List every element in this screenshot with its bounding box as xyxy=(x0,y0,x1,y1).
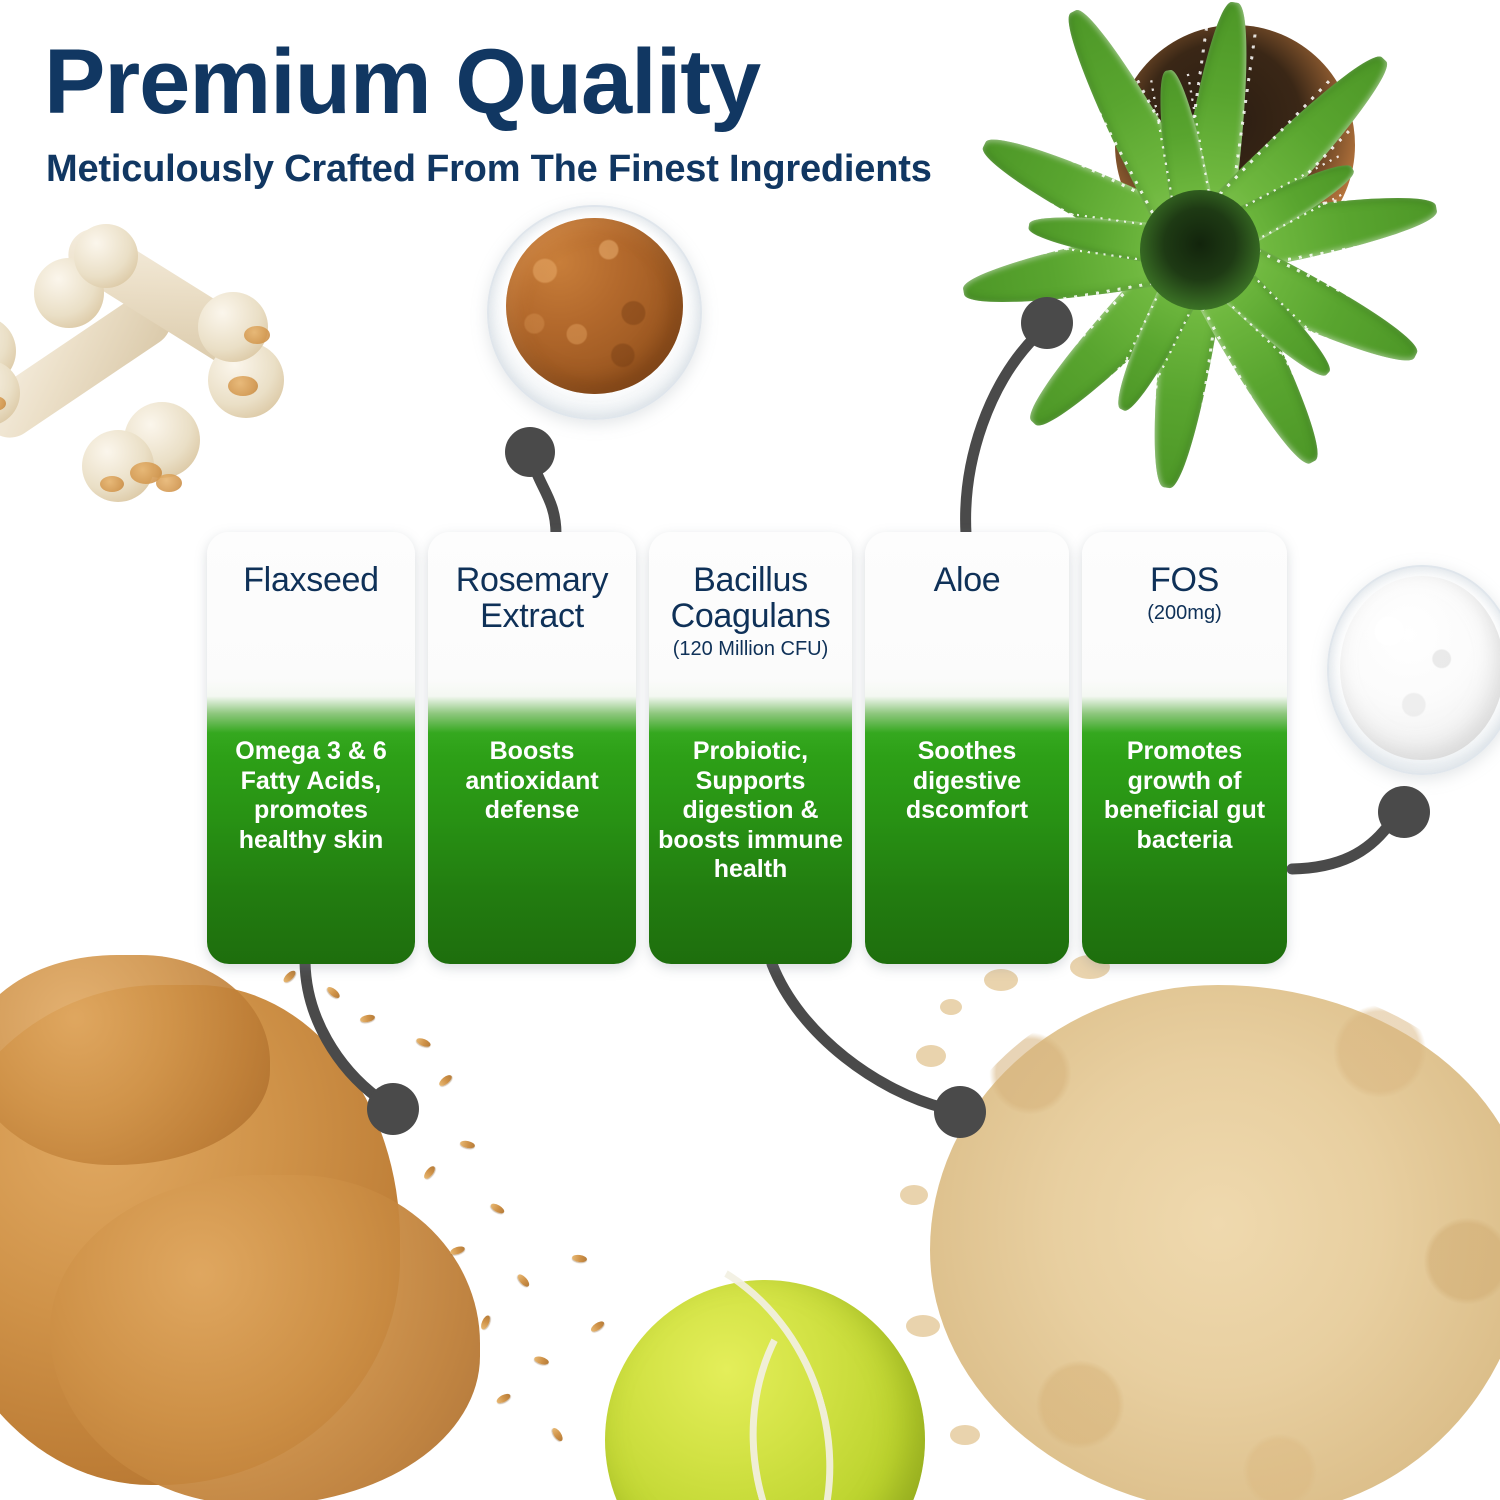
premium-quality-infographic: Premium Quality Meticulously Crafted Fro… xyxy=(0,0,1500,1500)
card-benefit: Probiotic, Supports digestion & boosts i… xyxy=(649,737,852,885)
header: Premium Quality Meticulously Crafted Fro… xyxy=(44,36,932,188)
page-subtitle: Meticulously Crafted From The Finest Ing… xyxy=(46,150,932,188)
card-title: Flaxseed xyxy=(217,562,405,598)
connector-fos-dot xyxy=(1378,786,1430,838)
card-subtitle: (200mg) xyxy=(1092,602,1277,624)
card-header: Aloe xyxy=(865,532,1069,602)
ingredient-card-aloe[interactable]: Aloe Soothes digestive dscomfort xyxy=(865,532,1069,964)
connector-fos-to-white-powder-line xyxy=(1292,826,1388,869)
card-benefit: Promotes growth of beneficial gut bacter… xyxy=(1082,737,1287,855)
card-title: Bacillus Coagulans xyxy=(659,562,842,634)
card-header: Flaxseed xyxy=(207,532,415,602)
connector-bacillus-to-beige-line xyxy=(772,964,944,1108)
card-benefit: Boosts antioxidant defense xyxy=(428,737,636,826)
connector-flaxseed-to-grain-line xyxy=(305,962,378,1098)
card-title: Aloe xyxy=(875,562,1059,598)
card-header: Bacillus Coagulans (120 Million CFU) xyxy=(649,532,852,660)
ingredient-card-fos[interactable]: FOS (200mg) Promotes growth of beneficia… xyxy=(1082,532,1287,964)
connector-rosemary-dot xyxy=(505,427,555,477)
card-header: Rosemary Extract xyxy=(428,532,636,638)
ingredient-card-flaxseed[interactable]: Flaxseed Omega 3 & 6 Fatty Acids, promot… xyxy=(207,532,415,964)
card-header: FOS (200mg) xyxy=(1082,532,1287,624)
ingredient-card-rosemary-extract[interactable]: Rosemary Extract Boosts antioxidant defe… xyxy=(428,532,636,964)
card-subtitle: (120 Million CFU) xyxy=(659,638,842,660)
card-benefit: Omega 3 & 6 Fatty Acids, promotes health… xyxy=(207,737,415,855)
card-title: Rosemary Extract xyxy=(438,562,626,634)
connector-aloe-to-plant-line xyxy=(966,336,1036,534)
connector-flaxseed-dot xyxy=(367,1083,419,1135)
card-title: FOS xyxy=(1092,562,1277,598)
page-title: Premium Quality xyxy=(44,36,932,128)
ingredient-card-bacillus-coagulans[interactable]: Bacillus Coagulans (120 Million CFU) Pro… xyxy=(649,532,852,964)
connector-bacillus-dot xyxy=(934,1086,986,1138)
ingredient-cards: Flaxseed Omega 3 & 6 Fatty Acids, promot… xyxy=(207,532,1297,964)
connector-aloe-dot xyxy=(1021,297,1073,349)
card-benefit: Soothes digestive dscomfort xyxy=(865,737,1069,826)
